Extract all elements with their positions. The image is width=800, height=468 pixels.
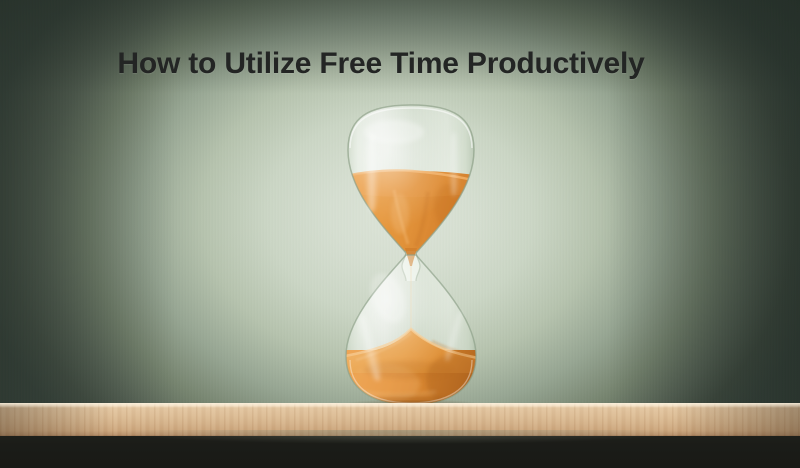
shelf-top-highlight	[0, 403, 800, 408]
slide-canvas: How to Utilize Free Time Productively	[0, 0, 800, 468]
wooden-shelf	[0, 403, 800, 436]
page-title: How to Utilize Free Time Productively	[0, 47, 800, 81]
under-shelf-shadow	[0, 432, 800, 468]
shelf-wood-grain	[0, 403, 800, 436]
hourglass-illustration	[336, 98, 486, 410]
hourglass-lower-bulb	[336, 255, 486, 410]
shelf-edge-shading	[0, 403, 800, 436]
hourglass-upper-bulb	[336, 105, 486, 268]
